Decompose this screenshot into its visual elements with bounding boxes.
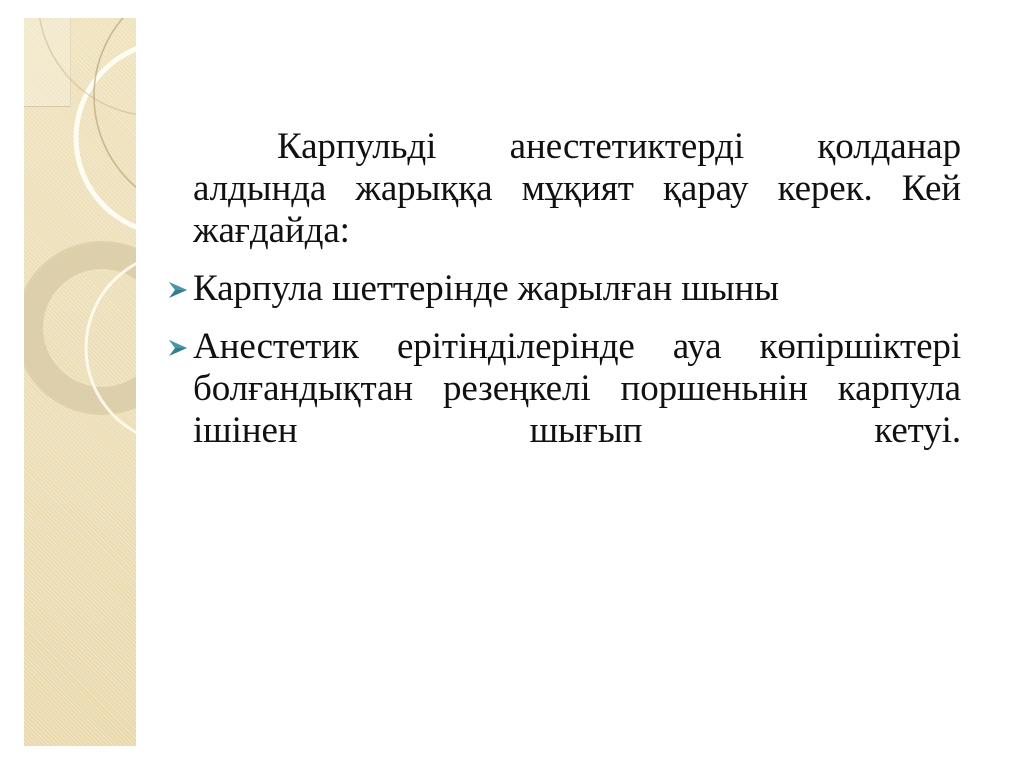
- decorative-sidebar: [24, 18, 136, 746]
- list-item-label: Анестетик ерітінділерінде ауа көпіршікте…: [193, 326, 961, 452]
- list-item: Карпула шеттерінде жарылған шыны: [193, 268, 961, 310]
- arrowhead-bullet-icon: [167, 279, 189, 301]
- slide-canvas: Карпульді анестетиктерді қолданар алдынд…: [0, 0, 1024, 767]
- bullet-list: Карпула шеттерінде жарылған шыны Анестет…: [193, 268, 961, 452]
- intro-paragraph: Карпульді анестетиктерді қолданар алдынд…: [193, 126, 961, 252]
- sidebar-circles-decoration: [24, 18, 136, 746]
- list-item-label: Карпула шеттерінде жарылған шыны: [193, 268, 961, 310]
- arrowhead-bullet-icon: [167, 337, 189, 359]
- list-item: Анестетик ерітінділерінде ауа көпіршікте…: [193, 326, 961, 452]
- slide-text-body: Карпульді анестетиктерді қолданар алдынд…: [193, 126, 961, 452]
